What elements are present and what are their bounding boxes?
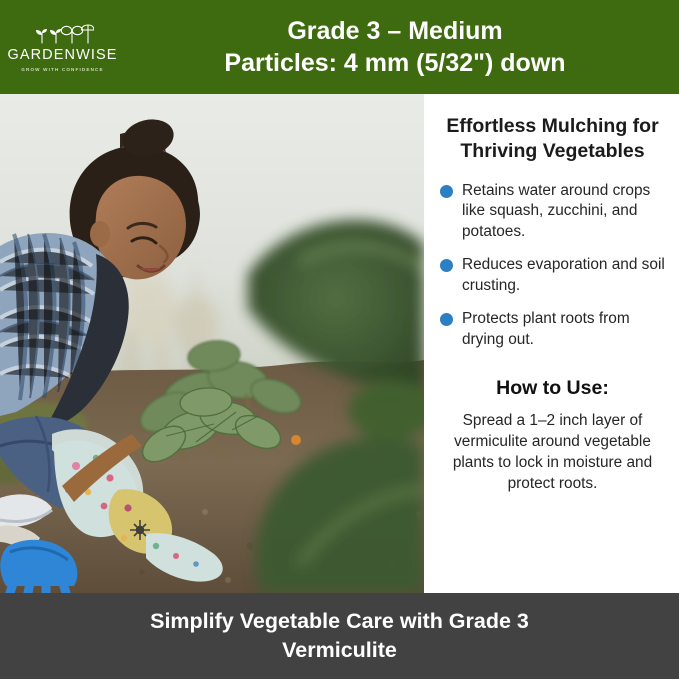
footer-line-2: Vermiculite	[282, 636, 397, 665]
list-item: Retains water around crops like squash, …	[440, 181, 665, 242]
page-title: Grade 3 – Medium Particles: 4 mm (5/32")…	[125, 0, 679, 94]
brand-wordmark: GARDENWISE	[7, 47, 117, 63]
benefit-text: Retains water around crops like squash, …	[462, 181, 665, 242]
content-area: Effortless Mulching for Thriving Vegetab…	[0, 94, 679, 593]
footer-line-1: Simplify Vegetable Care with Grade 3	[150, 607, 529, 636]
benefits-list: Retains water around crops like squash, …	[440, 181, 665, 363]
info-panel: Effortless Mulching for Thriving Vegetab…	[424, 94, 679, 593]
benefit-text: Protects plant roots from drying out.	[462, 309, 665, 350]
infographic-page: GARDENWISE GROW WITH CONFIDENCE Grade 3 …	[0, 0, 679, 679]
how-to-use-heading: How to Use:	[440, 377, 665, 400]
footer-banner: Simplify Vegetable Care with Grade 3 Ver…	[0, 593, 679, 679]
header-banner: GARDENWISE GROW WITH CONFIDENCE Grade 3 …	[0, 0, 679, 94]
bullet-dot-icon	[440, 185, 453, 198]
brand-logo: GARDENWISE GROW WITH CONFIDENCE	[0, 0, 125, 94]
list-item: Protects plant roots from drying out.	[440, 309, 665, 350]
gardening-photo	[0, 94, 424, 593]
bullet-dot-icon	[440, 313, 453, 326]
benefit-text: Reduces evaporation and soil crusting.	[462, 255, 665, 296]
bullet-dot-icon	[440, 259, 453, 272]
brand-tagline: GROW WITH CONFIDENCE	[21, 67, 103, 72]
panel-heading: Effortless Mulching for Thriving Vegetab…	[440, 114, 665, 165]
how-to-use-text: Spread a 1–2 inch layer of vermiculite a…	[440, 411, 665, 495]
header-title-line-2: Particles: 4 mm (5/32") down	[224, 47, 565, 80]
three-sprouts-icon	[32, 24, 94, 44]
list-item: Reduces evaporation and soil crusting.	[440, 255, 665, 296]
header-title-line-1: Grade 3 – Medium	[287, 15, 502, 48]
